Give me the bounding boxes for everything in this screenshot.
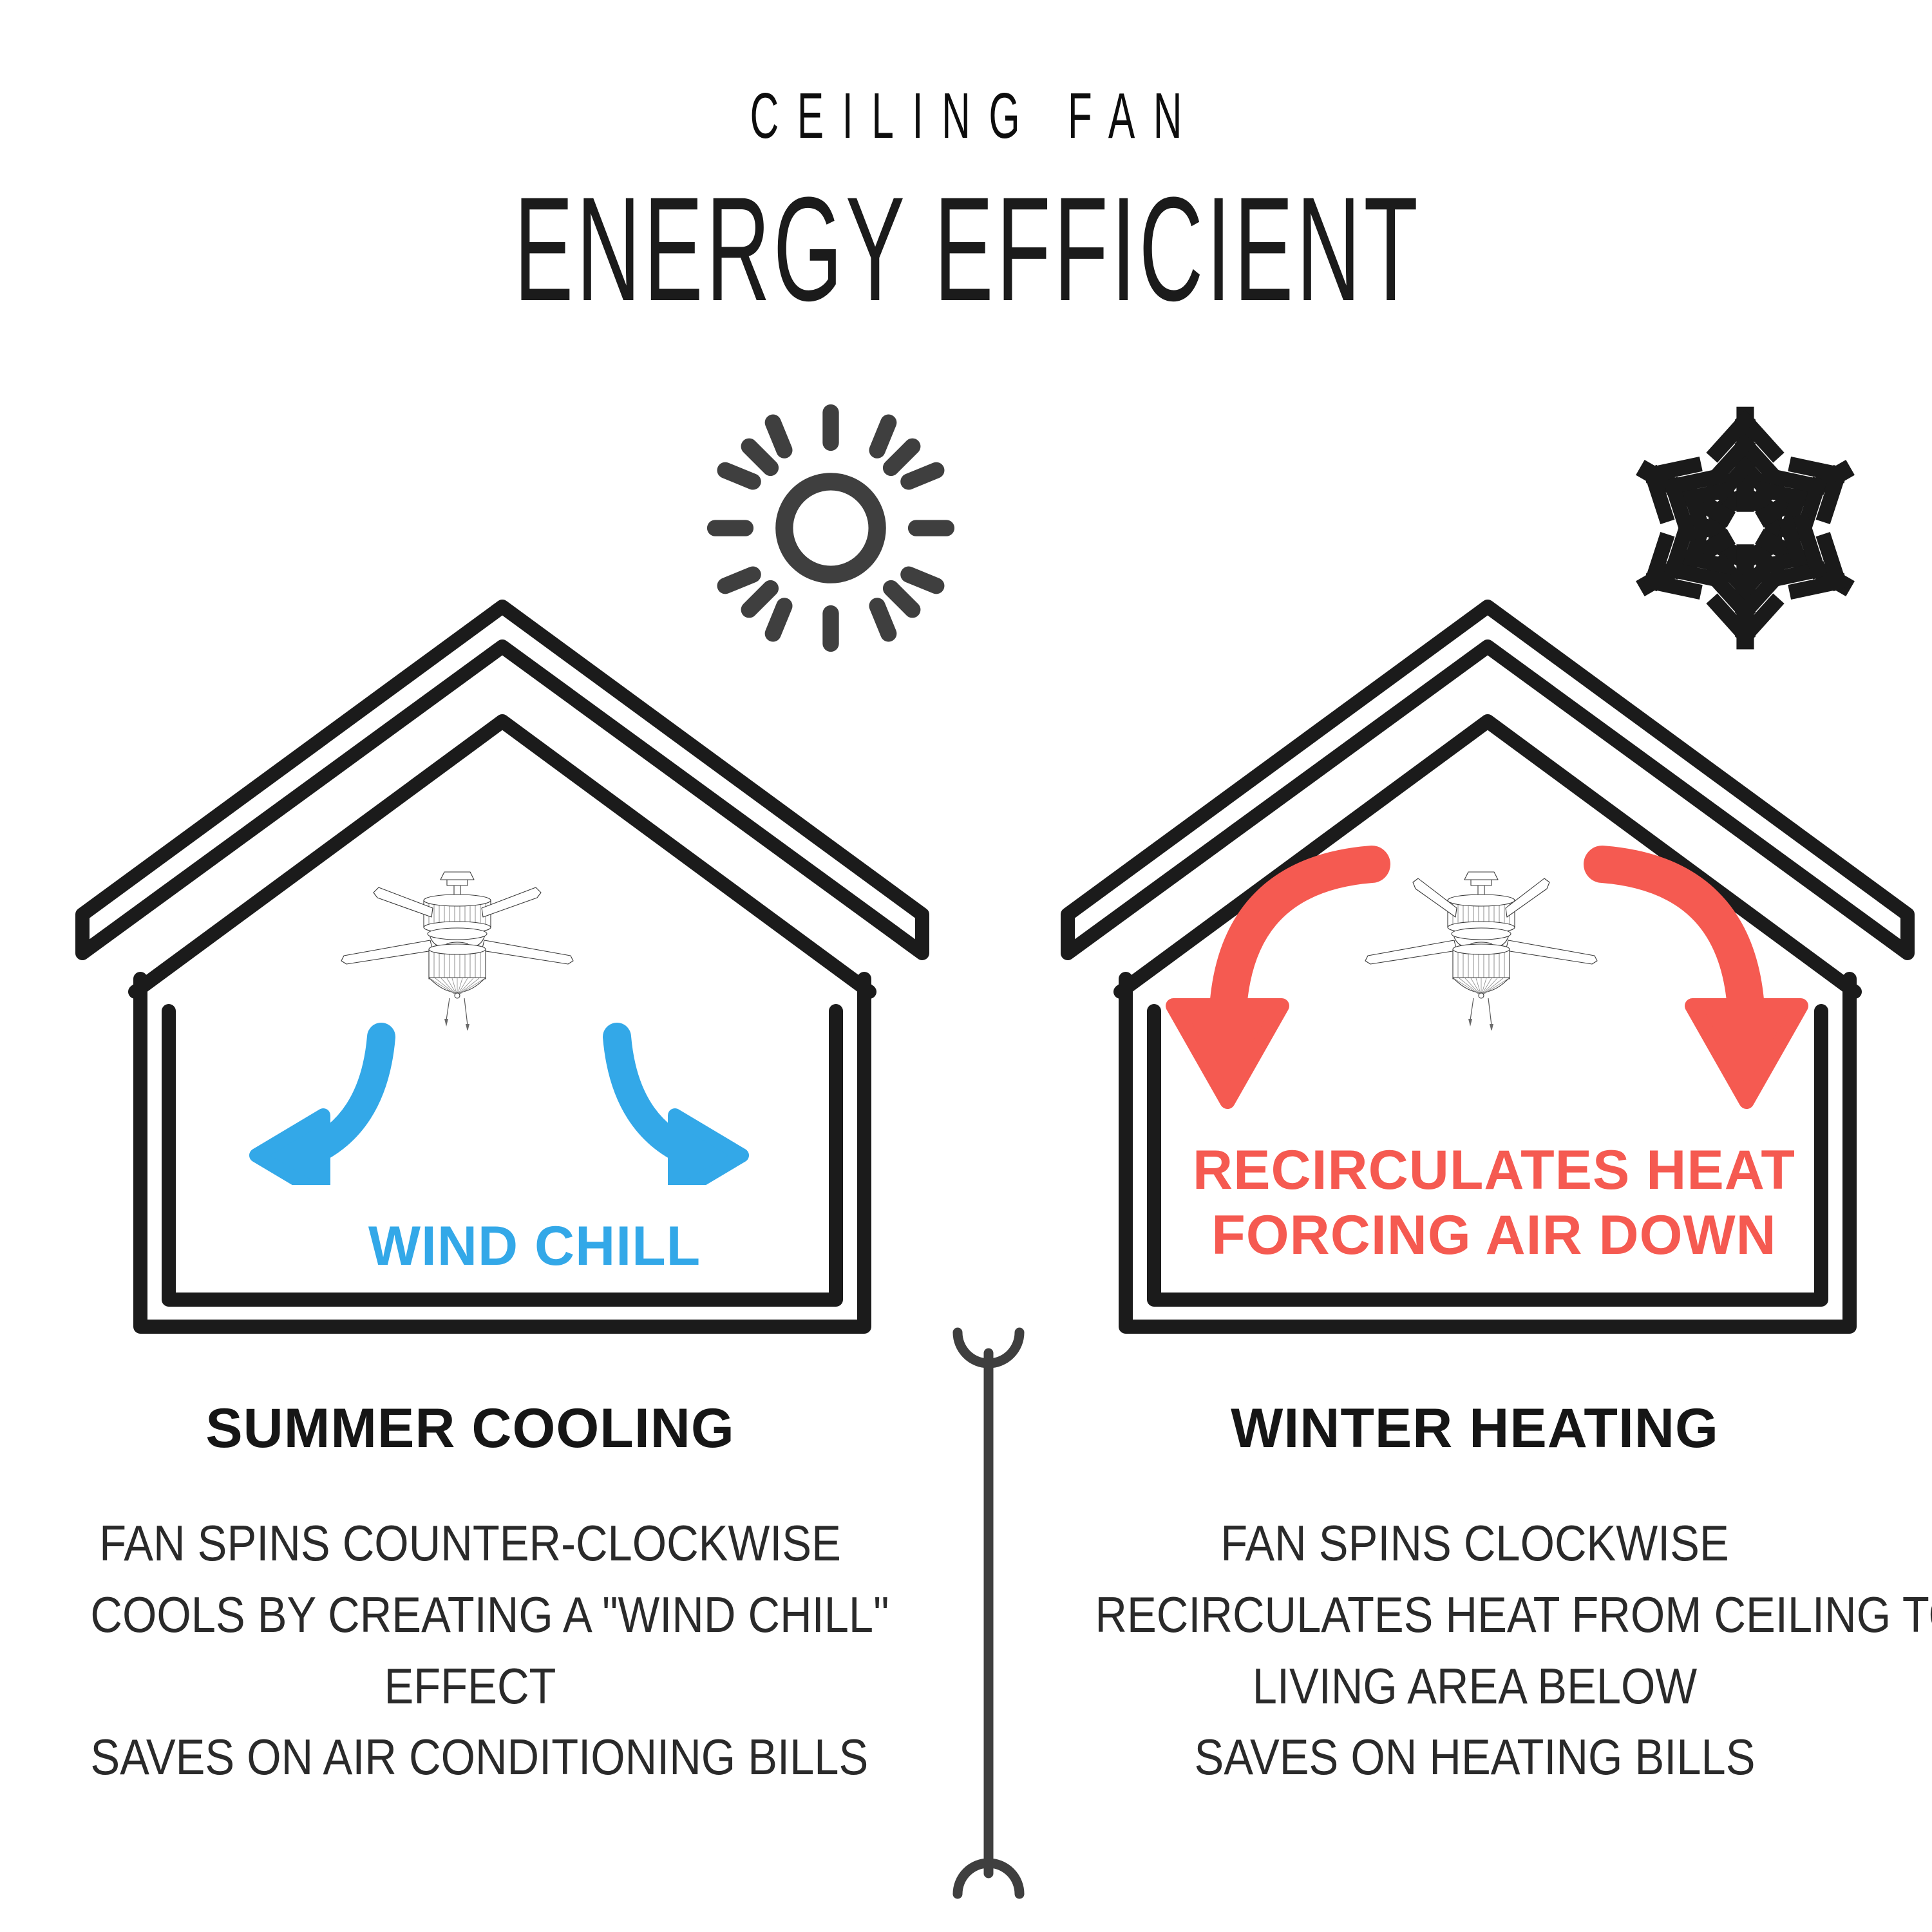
wind-chill-callout: WIND CHILL bbox=[90, 1216, 979, 1277]
caption-title: WINTER HEATING bbox=[1043, 1401, 1906, 1456]
caption-body-line: FAN SPINS CLOCKWISE bbox=[1095, 1508, 1854, 1579]
infographic-page: CEILING FAN ENERGY EFFICIENT bbox=[0, 0, 1932, 1932]
caption-body-line: COOLS BY CREATING A "WIND CHILL" bbox=[90, 1579, 849, 1651]
caption-body-line: RECIRCULATES HEAT FROM CEILING TO bbox=[1095, 1579, 1854, 1651]
curved-arrow-outward-icon bbox=[155, 824, 927, 1185]
center-divider bbox=[943, 1323, 1034, 1903]
winter-heating-caption: WINTER HEATING FAN SPINS CLOCKWISE RECIR… bbox=[1043, 1401, 1906, 1793]
recirculates-heat-callout: RECIRCULATES HEAT FORCING AIR DOWN bbox=[1082, 1140, 1906, 1269]
caption-body: FAN SPINS COUNTER-CLOCKWISE COOLS BY CRE… bbox=[90, 1508, 849, 1793]
callout-line: FORCING AIR DOWN bbox=[1082, 1205, 1906, 1266]
summer-cooling-caption: SUMMER COOLING FAN SPINS COUNTER-CLOCKWI… bbox=[39, 1401, 902, 1793]
callout-line: WIND CHILL bbox=[90, 1216, 979, 1277]
caption-body-line: EFFECT bbox=[90, 1651, 849, 1722]
callout-line: RECIRCULATES HEAT bbox=[1082, 1140, 1906, 1201]
caption-body-line: SAVES ON HEATING BILLS bbox=[1095, 1721, 1854, 1793]
page-eyebrow: CEILING FAN bbox=[367, 84, 1565, 148]
caption-body-line: FAN SPINS COUNTER-CLOCKWISE bbox=[90, 1508, 849, 1579]
caption-body-line: LIVING AREA BELOW bbox=[1095, 1651, 1854, 1722]
caption-body: FAN SPINS CLOCKWISE RECIRCULATES HEAT FR… bbox=[1095, 1508, 1854, 1793]
caption-title: SUMMER COOLING bbox=[39, 1401, 902, 1456]
caption-body-line: SAVES ON AIR CONDITIONING BILLS bbox=[90, 1721, 849, 1793]
curved-arrow-downward-icon bbox=[1140, 824, 1913, 1185]
page-title: ENERGY EFFICIENT bbox=[386, 175, 1546, 323]
